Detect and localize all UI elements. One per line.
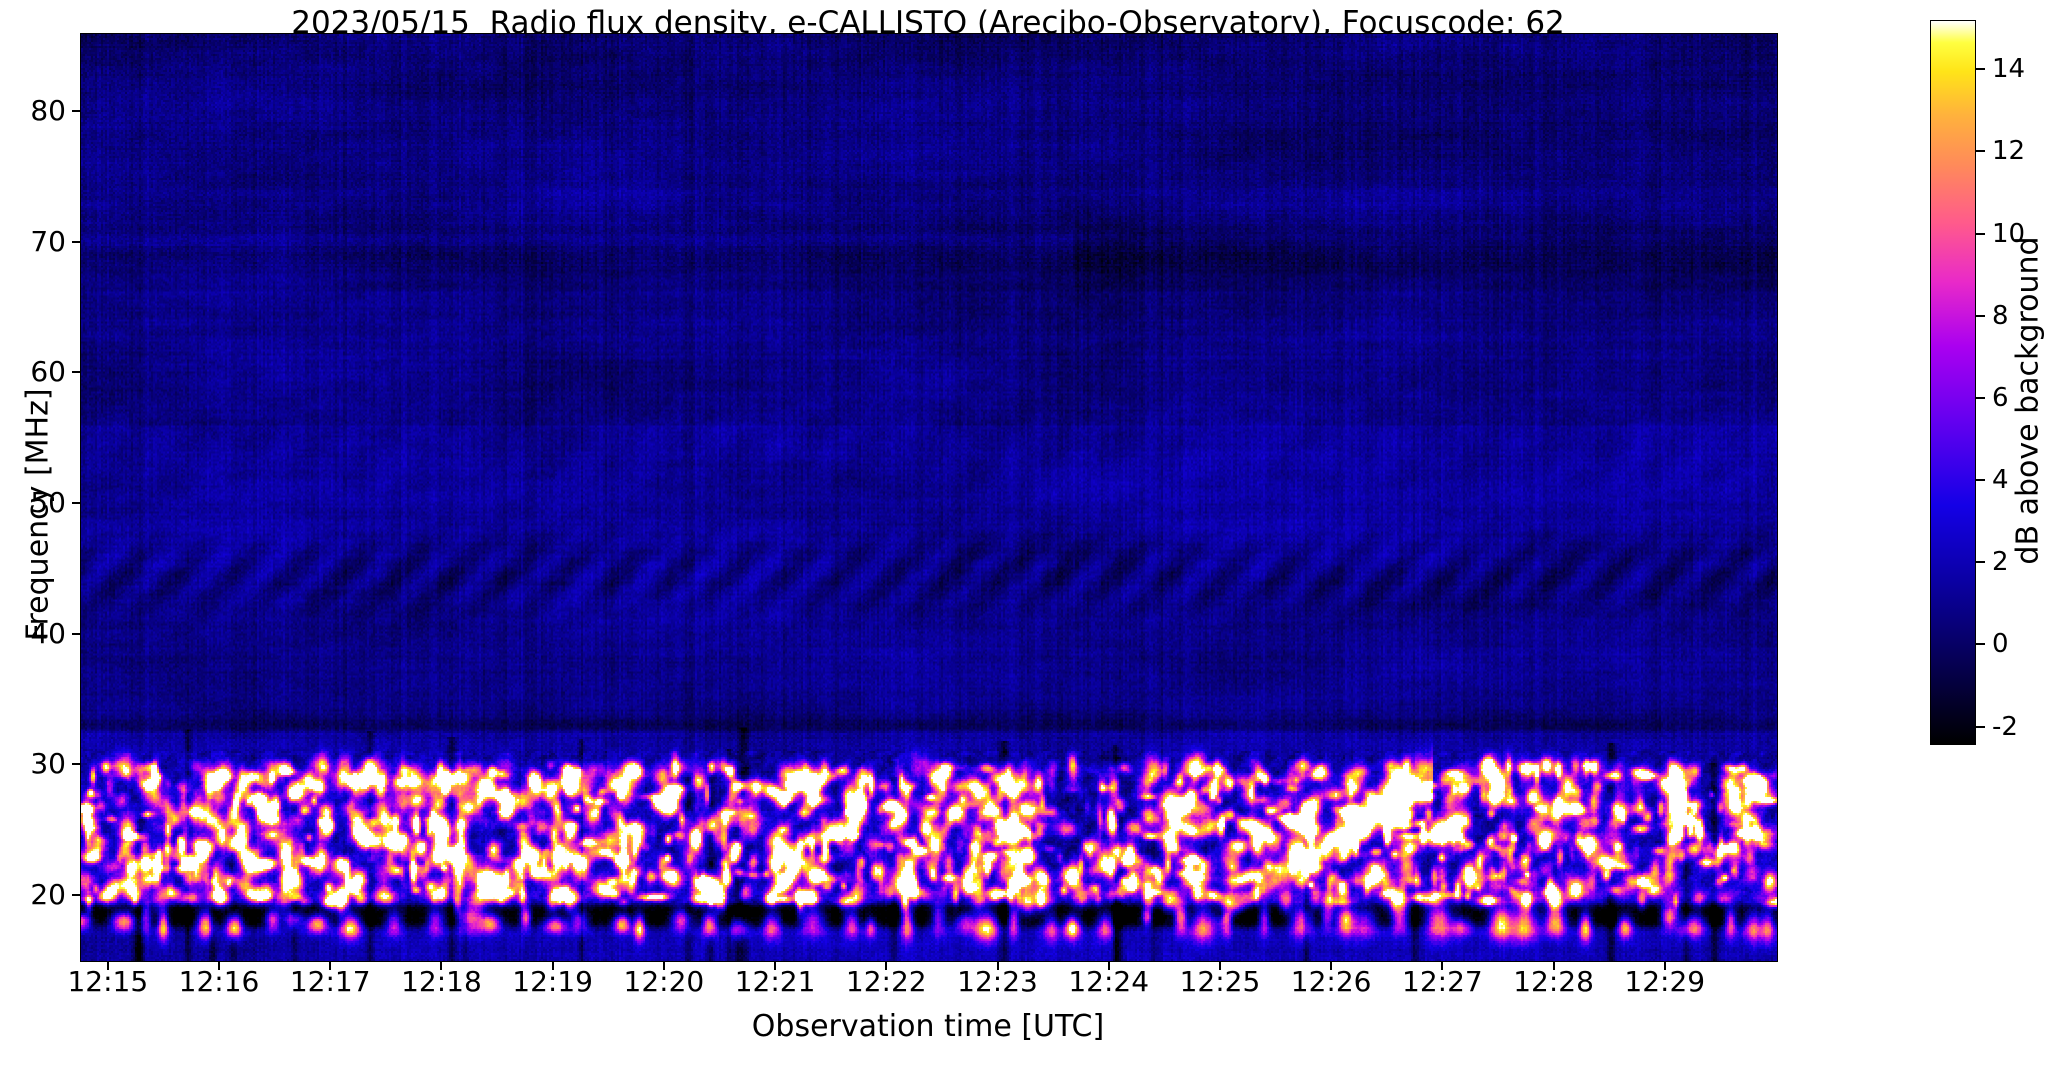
x-tick-label: 12:16	[179, 968, 260, 996]
x-tick-label: 12:26	[1291, 968, 1372, 996]
x-tick-mark	[440, 961, 442, 970]
y-tick-mark	[72, 633, 80, 635]
spectrogram-canvas-wrap	[81, 34, 1777, 961]
x-tick-mark	[552, 961, 554, 970]
x-axis-label: Observation time [UTC]	[80, 1009, 1776, 1044]
x-tick-mark	[1553, 961, 1555, 970]
x-tick-label: 12:27	[1402, 968, 1483, 996]
colorbar-tick-mark	[1976, 643, 1985, 645]
x-tick-mark	[1441, 961, 1443, 970]
colorbar-tick-mark	[1976, 479, 1985, 481]
colorbar-tick-label: 6	[1992, 385, 2009, 411]
x-tick-label: 12:25	[1180, 968, 1261, 996]
colorbar-gradient	[1930, 20, 1976, 745]
x-tick-mark	[1664, 961, 1666, 970]
x-tick-label: 12:28	[1513, 968, 1594, 996]
y-tick-label: 70	[30, 228, 66, 256]
x-tick-mark	[1330, 961, 1332, 970]
x-tick-mark	[107, 961, 109, 970]
x-tick-label: 12:24	[1068, 968, 1149, 996]
x-tick-mark	[218, 961, 220, 970]
colorbar-tick-label: 2	[1992, 549, 2009, 575]
colorbar: 14121086420-2	[1930, 20, 1976, 745]
x-tick-label: 12:17	[290, 968, 371, 996]
y-axis: Frequency [MHz] 80706050403020	[0, 0, 80, 1067]
spectrogram-image	[81, 34, 1777, 961]
colorbar-tick-mark	[1976, 726, 1985, 728]
colorbar-tick-label: 0	[1992, 631, 2009, 657]
x-tick-label: 12:29	[1624, 968, 1705, 996]
colorbar-tick-label: 8	[1992, 303, 2009, 329]
y-tick-mark	[72, 763, 80, 765]
x-tick-label: 12:22	[846, 968, 927, 996]
colorbar-tick-mark	[1976, 68, 1985, 70]
y-tick-label: 60	[30, 358, 66, 386]
y-tick-mark	[72, 110, 80, 112]
x-tick-mark	[663, 961, 665, 970]
x-tick-mark	[1108, 961, 1110, 970]
colorbar-tick-mark	[1976, 397, 1985, 399]
x-tick-label: 12:23	[957, 968, 1038, 996]
y-tick-mark	[72, 894, 80, 896]
colorbar-tick-mark	[1976, 233, 1985, 235]
colorbar-tick-label: -2	[1992, 714, 2018, 740]
x-tick-label: 12:19	[512, 968, 593, 996]
x-tick-mark	[1219, 961, 1221, 970]
x-tick-mark	[885, 961, 887, 970]
x-tick-label: 12:20	[624, 968, 705, 996]
colorbar-tick-label: 4	[1992, 467, 2009, 493]
x-tick-label: 12:15	[67, 968, 148, 996]
y-tick-label: 50	[30, 489, 66, 517]
x-tick-mark	[329, 961, 331, 970]
colorbar-label: dB above background	[2011, 121, 2046, 681]
x-tick-mark	[774, 961, 776, 970]
y-tick-mark	[72, 241, 80, 243]
colorbar-tick-mark	[1976, 150, 1985, 152]
spectrogram-plot[interactable]	[80, 33, 1778, 962]
y-tick-mark	[72, 371, 80, 373]
colorbar-tick-mark	[1976, 561, 1985, 563]
colorbar-tick-mark	[1976, 315, 1985, 317]
y-tick-label: 30	[30, 750, 66, 778]
y-tick-label: 20	[30, 881, 66, 909]
x-tick-label: 12:18	[401, 968, 482, 996]
y-tick-mark	[72, 502, 80, 504]
x-tick-mark	[997, 961, 999, 970]
y-tick-label: 40	[30, 620, 66, 648]
colorbar-tick-label: 14	[1992, 56, 2025, 82]
x-tick-label: 12:21	[735, 968, 816, 996]
y-tick-label: 80	[30, 97, 66, 125]
